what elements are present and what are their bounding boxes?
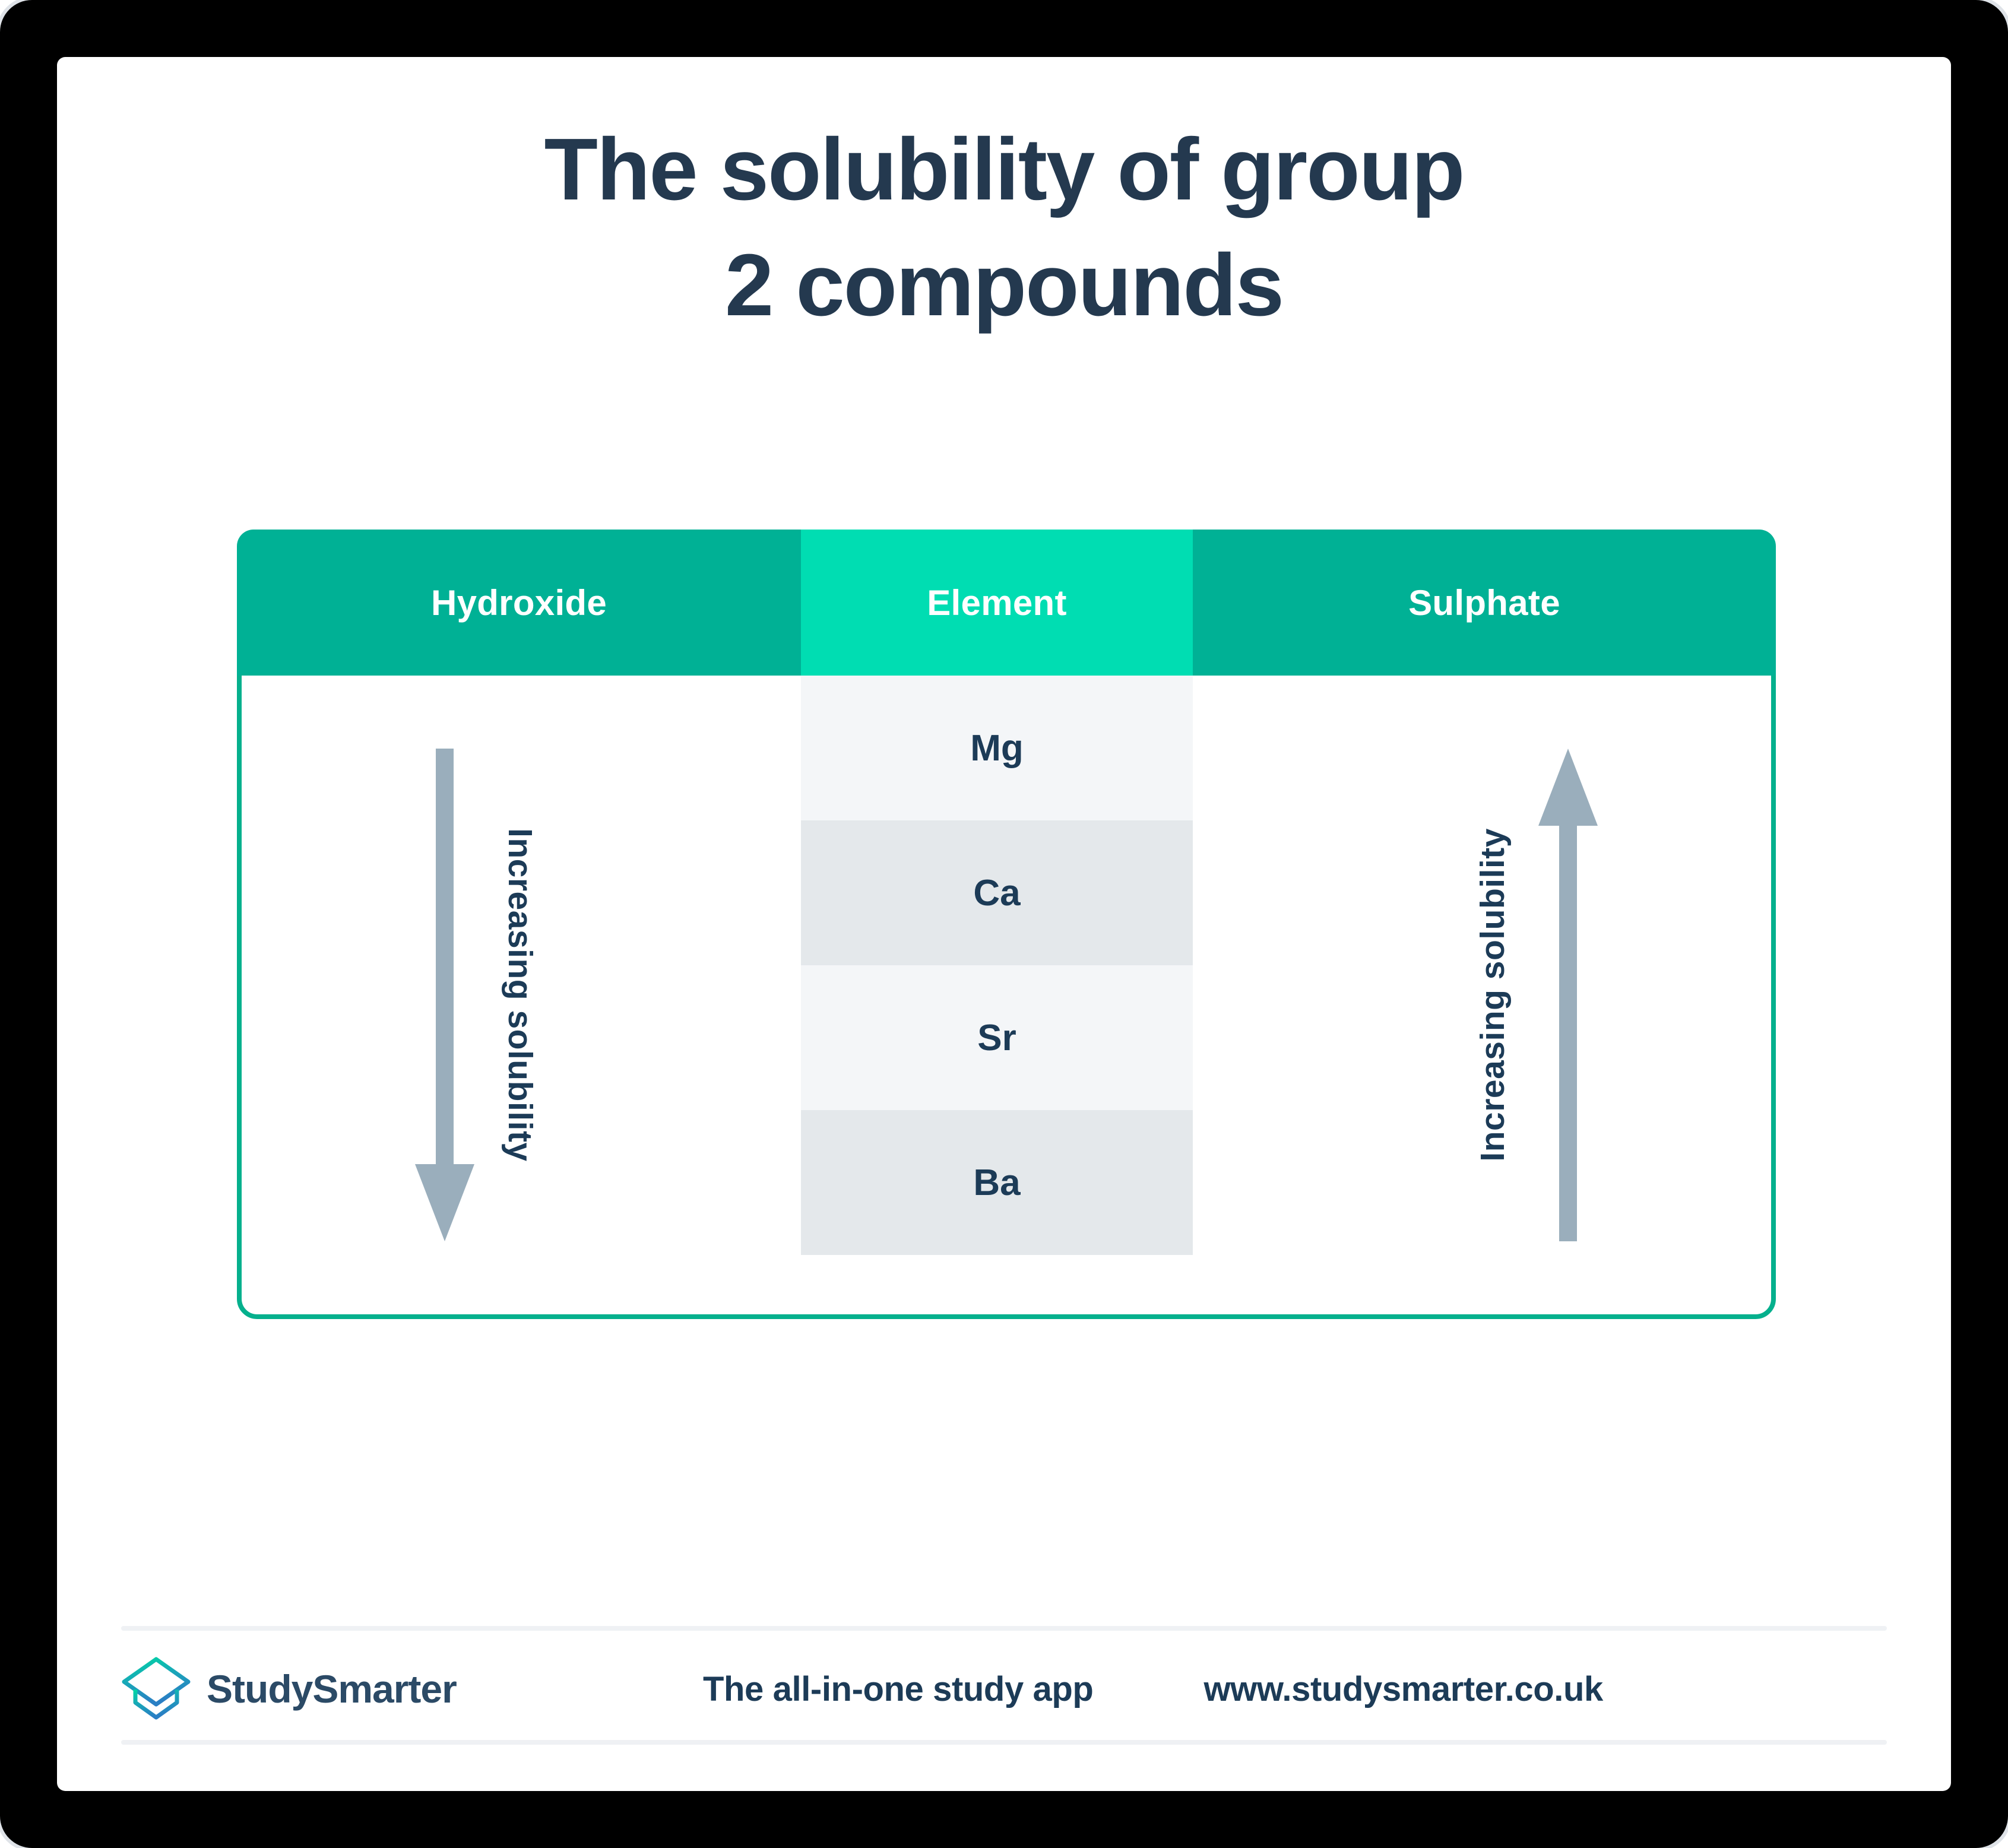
hydroxide-arrow-group: Increasing solubility	[415, 749, 540, 1241]
footer-content-row: StudySmarter The all-in-one study app ww…	[121, 1647, 1887, 1730]
table-row-ba: Ba	[801, 1110, 1193, 1255]
open-box-logo-icon	[121, 1656, 191, 1722]
page-title-line-1: The solubility of group	[57, 112, 1951, 227]
footer-tagline: The all-in-one study app	[703, 1669, 1093, 1709]
footer-website-url[interactable]: www.studysmarter.co.uk	[1203, 1669, 1602, 1709]
footer-divider-top	[121, 1626, 1887, 1631]
table-header-element: Element	[801, 530, 1193, 676]
sulphate-annotation-panel: Increasing solubility	[1193, 676, 1776, 1314]
solubility-table: Hydroxide Element Sulphate Mg Ca Sr Ba	[237, 530, 1776, 1319]
hydroxide-annotation-panel: Increasing solubility	[237, 676, 801, 1314]
footer: StudySmarter The all-in-one study app ww…	[57, 1577, 1951, 1791]
arrow-down-icon	[415, 749, 474, 1241]
table-row-mg: Mg	[801, 676, 1193, 820]
page-title-line-2: 2 compounds	[57, 227, 1951, 343]
table-row-sr: Sr	[801, 965, 1193, 1110]
brand[interactable]: StudySmarter	[121, 1656, 703, 1722]
hydroxide-annotation-label: Increasing solubility	[501, 828, 540, 1162]
table-row-ca: Ca	[801, 820, 1193, 965]
table-header-row: Hydroxide Element Sulphate	[237, 530, 1776, 676]
sulphate-arrow-group: Increasing solubility	[1473, 749, 1598, 1241]
footer-divider-bottom	[121, 1740, 1887, 1745]
outer-frame: The solubility of group 2 compounds Hydr…	[0, 0, 2008, 1848]
table-header-sulphate: Sulphate	[1193, 530, 1776, 676]
brand-name: StudySmarter	[207, 1666, 457, 1711]
sulphate-annotation-label: Increasing solubility	[1473, 828, 1512, 1162]
table-header-hydroxide: Hydroxide	[237, 530, 801, 676]
page-title: The solubility of group 2 compounds	[57, 112, 1951, 344]
element-column: Mg Ca Sr Ba	[801, 676, 1193, 1327]
arrow-up-icon	[1538, 749, 1598, 1241]
content-card: The solubility of group 2 compounds Hydr…	[57, 57, 1951, 1791]
